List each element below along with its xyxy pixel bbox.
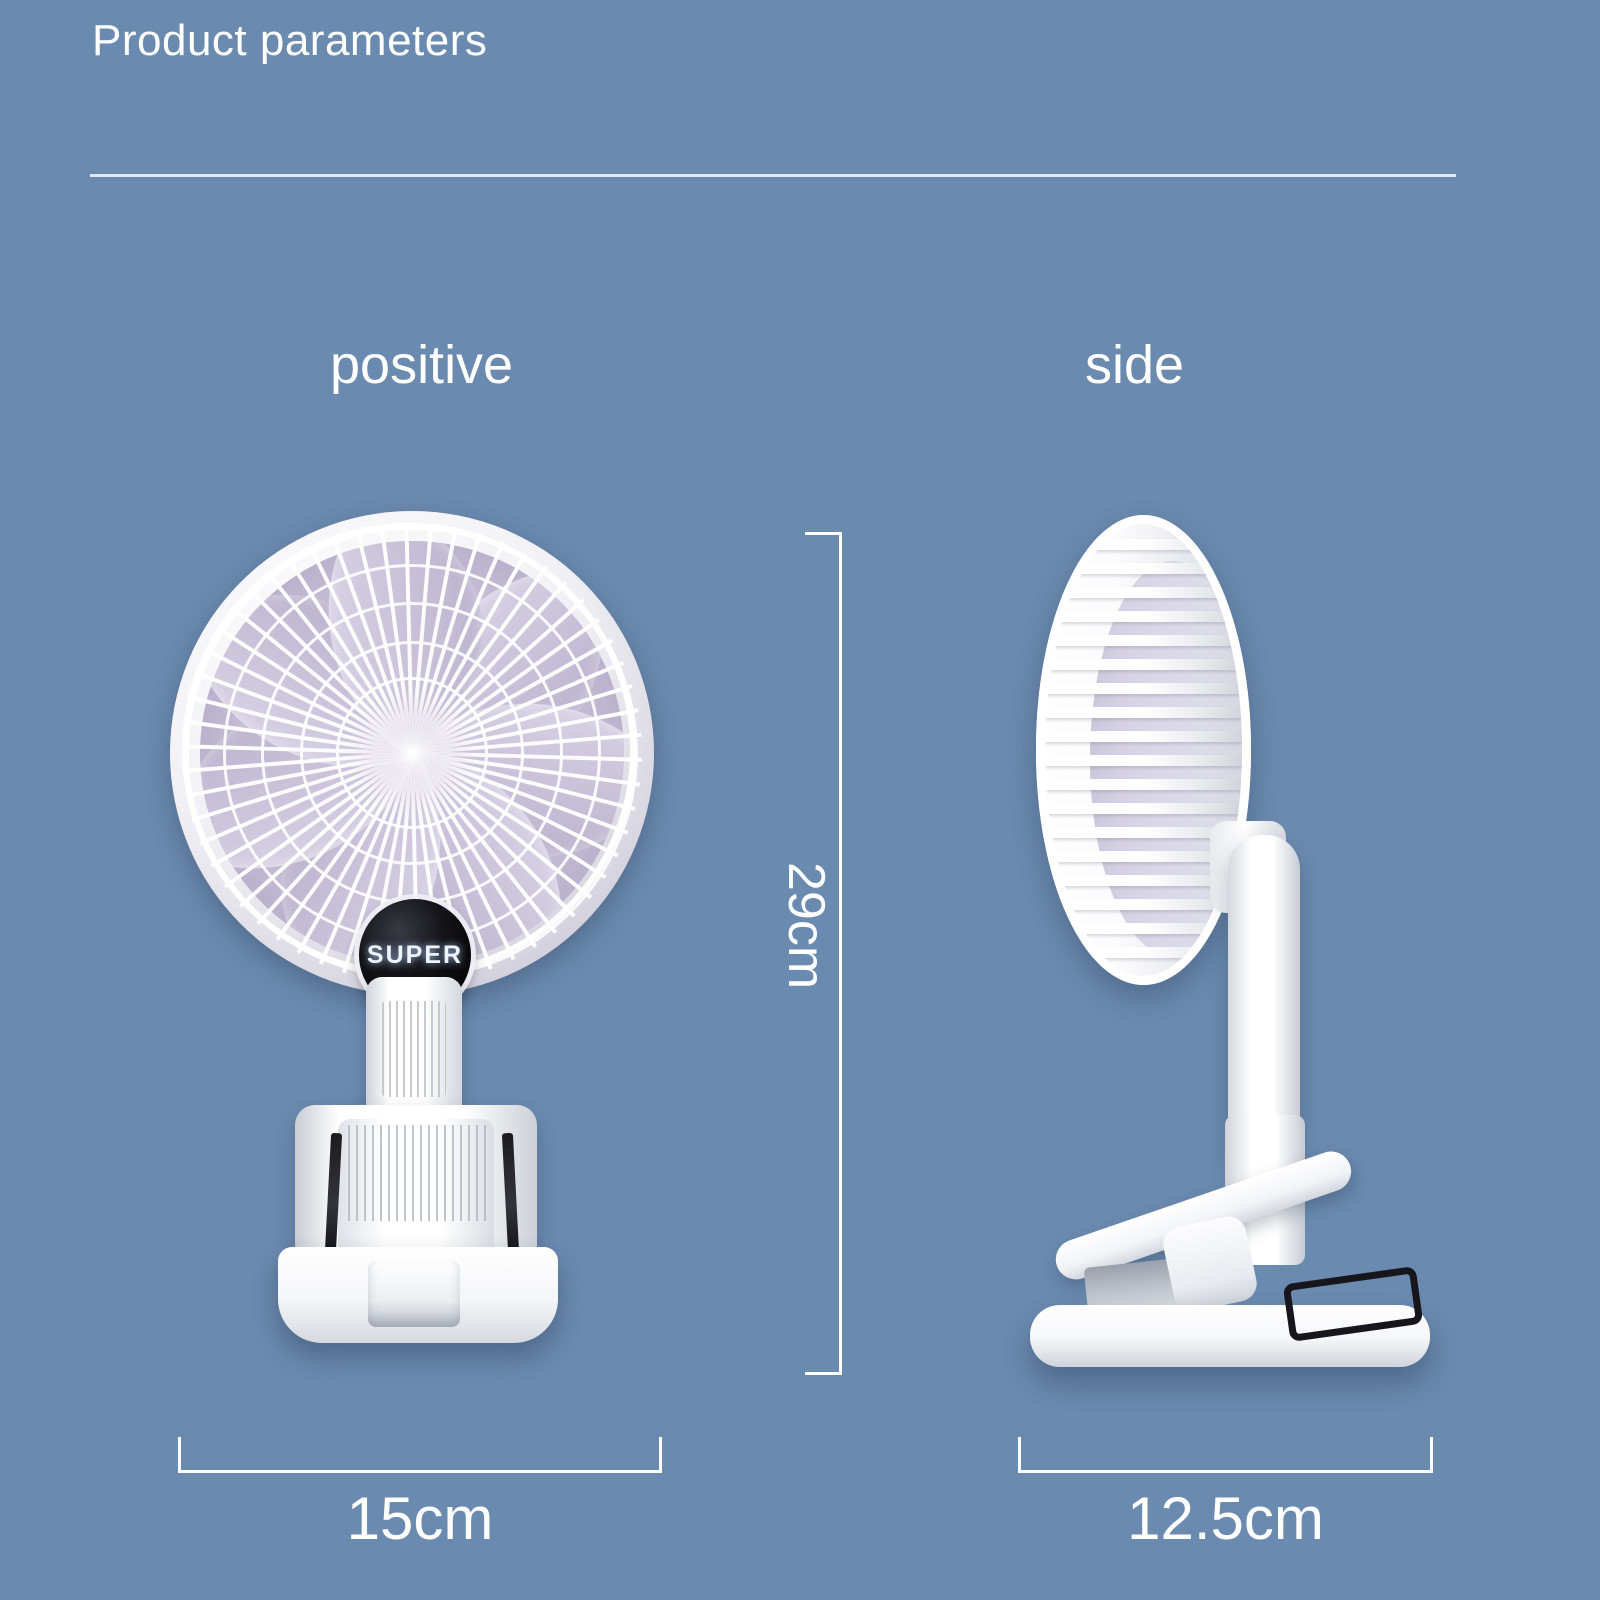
grille-slat [1042, 563, 1245, 574]
grille-slat [1042, 635, 1245, 646]
brand-label: SUPER [367, 941, 463, 970]
grille-slat [1042, 707, 1245, 718]
grille-slat [1042, 611, 1245, 622]
clamp-ribs [348, 1125, 486, 1221]
grille-slat [1042, 587, 1245, 598]
front-width-tick-left [178, 1437, 181, 1473]
front-width-tick-right [659, 1437, 662, 1473]
side-view-caption: side [1085, 334, 1184, 396]
side-depth-tick-right [1430, 1437, 1433, 1473]
grille-slat [1042, 731, 1245, 742]
side-depth-tick-left [1018, 1437, 1021, 1473]
side-depth-label: 12.5cm [1018, 1484, 1433, 1553]
grille-slat [1042, 803, 1245, 814]
front-view-caption: positive [330, 334, 513, 396]
grille-slat [1042, 683, 1245, 694]
grille-slat [1042, 779, 1245, 790]
grille-slat [1042, 923, 1245, 934]
product-parameters-infographic: Product parameters positive side SUPER [0, 0, 1600, 1600]
height-dimension-line [839, 532, 842, 1375]
grille-slat [1042, 659, 1245, 670]
front-width-label: 15cm [178, 1484, 662, 1553]
fan-side-view [1000, 505, 1460, 1405]
page-title: Product parameters [92, 16, 487, 66]
fan-neck-ribs [382, 1001, 446, 1097]
grille-slat [1042, 539, 1245, 550]
side-depth-dimension-line [1018, 1470, 1433, 1473]
grille-slat [1042, 947, 1245, 958]
header-divider [90, 174, 1456, 177]
height-dimension-tick-top [805, 532, 842, 535]
clamp-grip-pad [1160, 1213, 1260, 1315]
front-width-dimension-line [178, 1470, 662, 1473]
height-dimension-label: 29cm [776, 862, 836, 989]
height-dimension-tick-bottom [805, 1372, 842, 1375]
clamp-base-slot [368, 1261, 460, 1327]
fan-front-view: SUPER [160, 505, 670, 1405]
fan-grille-slats [1036, 515, 1251, 985]
grille-slat [1042, 755, 1245, 766]
